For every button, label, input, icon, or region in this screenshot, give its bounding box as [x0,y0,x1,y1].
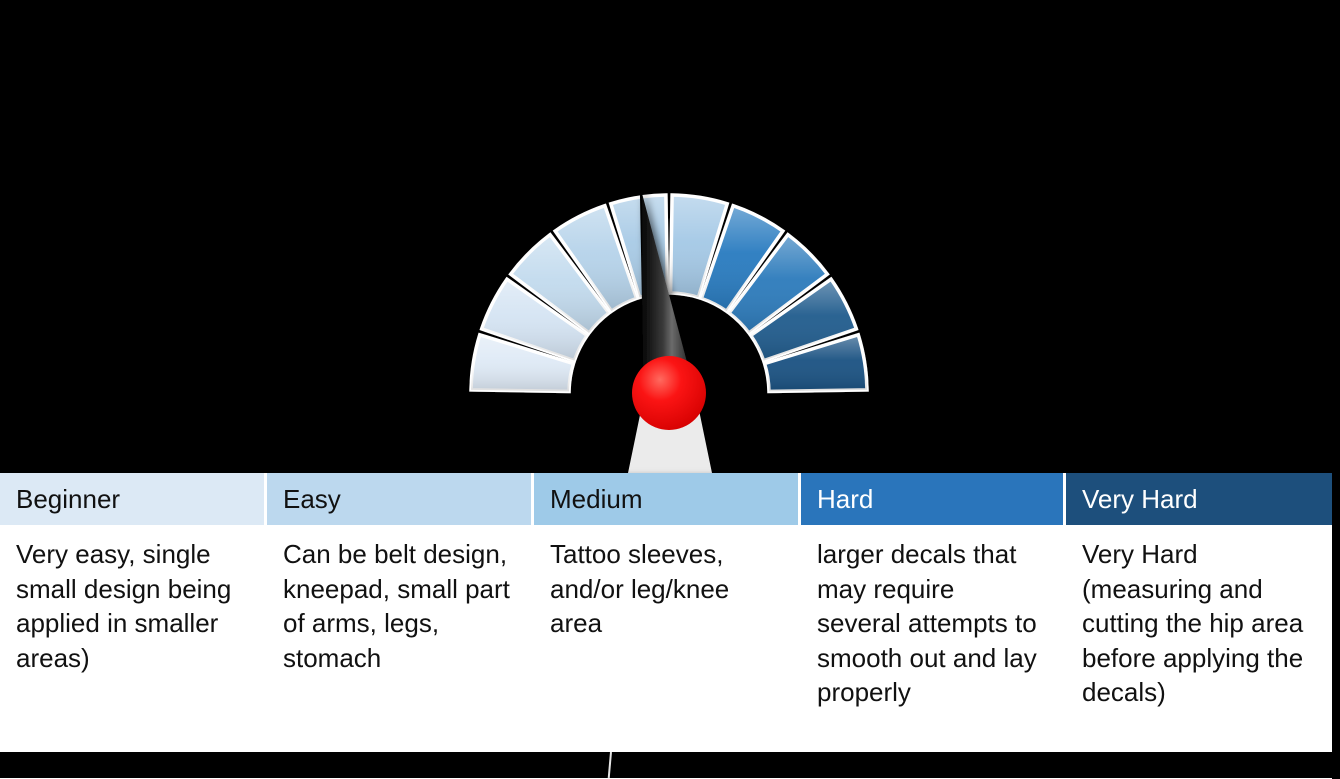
column-header-beginner[interactable]: Beginner [0,473,267,525]
column-header-medium[interactable]: Medium [534,473,801,525]
column-header-very-hard[interactable]: Very Hard [1066,473,1332,525]
cell-very-hard-description: Very Hard (measuring and cutting the hip… [1066,525,1332,779]
cell-medium-description: Tattoo sleeves, and/or leg/knee area [534,525,801,779]
column-header-easy[interactable]: Easy [267,473,534,525]
cell-beginner-description: Very easy, single small design being app… [0,525,267,779]
gauge-hub [632,356,706,430]
cell-easy-description: Can be belt design, kneepad, small part … [267,525,534,779]
table-header-row: Beginner Easy Medium Hard Very Hard [0,473,1332,525]
cell-hard-description: larger decals that may require several a… [801,525,1066,779]
column-header-hard[interactable]: Hard [801,473,1066,525]
bottom-band [0,752,1340,778]
difficulty-gauge [0,0,1340,473]
difficulty-table: Beginner Easy Medium Hard Very Hard Very… [0,473,1332,779]
table-row: Very easy, single small design being app… [0,525,1332,779]
gauge-area [0,0,1340,473]
